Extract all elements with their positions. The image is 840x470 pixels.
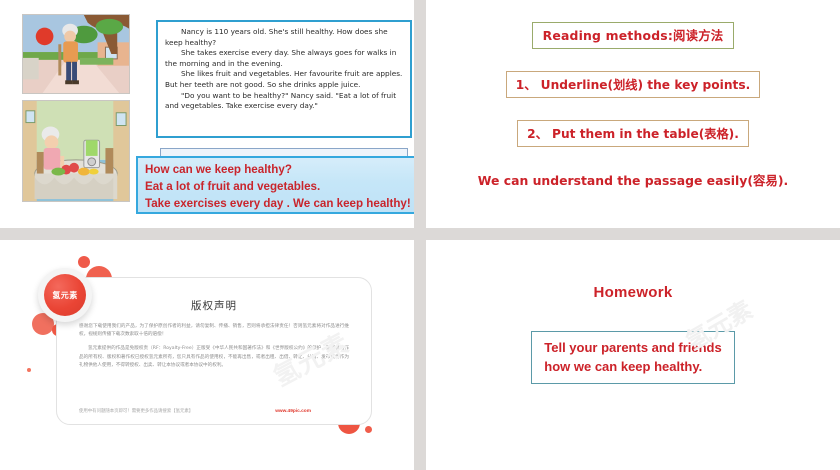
highlight-answer-box: How can we keep healthy? Eat a lot of fr… bbox=[136, 156, 414, 214]
slide-reading-passage[interactable]: Nancy is 110 years old. She's still heal… bbox=[0, 0, 414, 228]
homework-title: Homework bbox=[593, 284, 672, 301]
homework-line-1: Tell your parents and friends bbox=[544, 338, 721, 357]
copyright-paragraph-1: 感谢您下载使用我们的产品，为了保护原创作者的利益，请勿复制、传播、销售，否则将承… bbox=[79, 323, 349, 339]
copyright-title: 版权声明 bbox=[79, 298, 349, 313]
decorative-dot bbox=[365, 426, 372, 433]
slide-homework[interactable]: 氢元素 Homework Tell your parents and frien… bbox=[426, 240, 840, 470]
reading-method-item-1: 1、 Underline(划线) the key points. bbox=[506, 71, 760, 98]
passage-paragraph-1: Nancy is 110 years old. She's still heal… bbox=[165, 27, 403, 48]
reading-methods-footer: We can understand the passage easily(容易)… bbox=[478, 171, 788, 189]
highlight-line-2: Eat a lot of fruit and vegetables. bbox=[145, 178, 411, 195]
brand-logo-badge[interactable]: 氢元素 bbox=[38, 268, 92, 322]
homework-line-2: how we can keep healthy. bbox=[544, 357, 721, 376]
brand-logo-label: 氢元素 bbox=[52, 290, 77, 301]
copyright-paragraph-2: 氢元素提供的作品是免版权责（RF：Royalty-Free）正版受《中华人民共和… bbox=[79, 345, 349, 370]
passage-paragraph-4: "Do you want to be healthy?" Nancy said.… bbox=[165, 91, 403, 112]
slide-copyright-notice[interactable]: 氢元素 版权声明 感谢您下载使用我们的产品，为了保护原创作者的利益，请勿复制、传… bbox=[0, 240, 414, 470]
homework-task-box: Tell your parents and friends how we can… bbox=[531, 331, 734, 384]
decorative-dot bbox=[78, 256, 90, 268]
reading-passage-box: Nancy is 110 years old. She's still heal… bbox=[156, 20, 412, 138]
passage-paragraph-2: She takes exercise every day. She always… bbox=[165, 48, 403, 69]
reading-methods-title: Reading methods:阅读方法 bbox=[532, 22, 735, 49]
elderly-man-walking-outdoors-image bbox=[22, 14, 130, 94]
decorative-dot bbox=[27, 368, 31, 372]
reading-method-item-2: 2、 Put them in the table(表格). bbox=[517, 120, 749, 147]
copyright-card: 氢元素 版权声明 感谢您下载使用我们的产品，为了保护原创作者的利益，请勿复制、传… bbox=[56, 277, 372, 425]
passage-paragraph-3: She likes fruit and vegetables. Her favo… bbox=[165, 69, 403, 90]
copyright-footer-note: 使用中有问题随本页即可！需要更多作品请搜索【氢元素】 bbox=[79, 408, 193, 414]
copyright-url[interactable]: www.49pic.com bbox=[275, 409, 311, 414]
slide-grid: Nancy is 110 years old. She's still heal… bbox=[0, 0, 840, 470]
highlight-line-1: How can we keep healthy? bbox=[145, 161, 411, 178]
slide-reading-methods[interactable]: Reading methods:阅读方法 1、 Underline(划线) th… bbox=[426, 0, 840, 228]
elderly-woman-at-table-with-fruit-and-blender-image bbox=[22, 100, 130, 202]
highlight-line-3: Take exercises every day . We can keep h… bbox=[145, 195, 411, 212]
